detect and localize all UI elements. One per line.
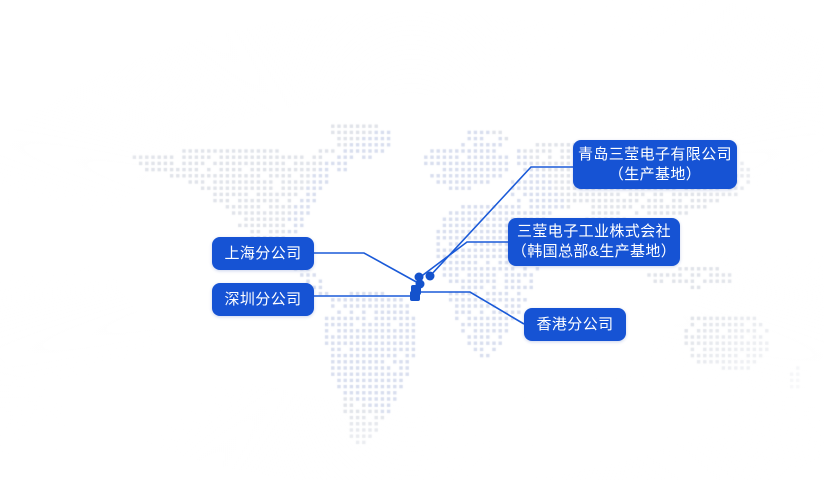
label-qingdao[interactable]: 青岛三莹电子有限公司 （生产基地） xyxy=(573,140,737,189)
marker-hongkong[interactable] xyxy=(411,285,421,295)
label-hongkong-line1: 香港分公司 xyxy=(537,315,614,335)
label-shenzhen-line1: 深圳分公司 xyxy=(225,290,302,310)
label-hongkong[interactable]: 香港分公司 xyxy=(524,308,626,341)
label-korea-hq[interactable]: 三莹电子工业株式会社 （韩国总部&生产基地） xyxy=(508,218,680,266)
marker-qingdao[interactable] xyxy=(426,272,435,281)
label-shanghai-line1: 上海分公司 xyxy=(225,244,302,264)
label-shanghai[interactable]: 上海分公司 xyxy=(212,237,314,270)
map-infographic: 青岛三莹电子有限公司 （生产基地） 三莹电子工业株式会社 （韩国总部&生产基地）… xyxy=(0,0,824,480)
label-korea-line1: 三莹电子工业株式会社 xyxy=(517,222,671,242)
label-qingdao-line2: （生产基地） xyxy=(609,165,701,185)
label-qingdao-line1: 青岛三莹电子有限公司 xyxy=(578,145,732,165)
world-map-dots xyxy=(0,0,824,480)
label-korea-line2: （韩国总部&生产基地） xyxy=(512,242,676,262)
label-shenzhen[interactable]: 深圳分公司 xyxy=(212,283,314,316)
